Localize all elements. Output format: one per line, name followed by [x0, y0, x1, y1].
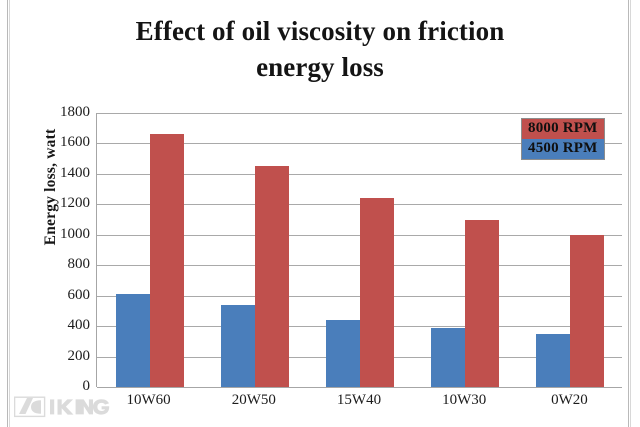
king-logo-watermark	[14, 396, 110, 418]
x-axis-tick-labels: 10W6020W5015W4010W300W20	[96, 392, 622, 409]
chart-title-line-1: Effect of oil viscosity on friction	[60, 14, 580, 50]
y-axis-tick-label: 400	[68, 317, 91, 334]
bar	[326, 320, 360, 387]
bar	[570, 235, 604, 387]
chart-legend: 8000 RPM4500 RPM	[521, 118, 605, 160]
bar	[255, 166, 289, 387]
bar-group	[307, 113, 412, 387]
y-axis-tick-label: 1000	[60, 226, 90, 243]
bar	[221, 305, 255, 387]
bar-group	[412, 113, 517, 387]
slide-right-border	[628, 0, 629, 427]
x-axis-tick-label: 10W30	[412, 392, 517, 409]
y-axis-tick-label: 600	[68, 287, 91, 304]
slide-right-border-inner	[630, 0, 631, 427]
x-axis-tick-label: 0W20	[517, 392, 622, 409]
y-axis-tick-label: 800	[68, 256, 91, 273]
slide-left-border-inner	[9, 0, 10, 427]
y-axis-tick-label: 200	[68, 348, 91, 365]
bar	[360, 198, 394, 387]
x-axis-line: 0	[97, 387, 622, 388]
y-axis-tick-label: 0	[83, 378, 91, 395]
y-axis-title: Energy loss, watt	[42, 92, 60, 282]
x-axis-tick-label: 20W50	[201, 392, 306, 409]
chart-title-line-2: energy loss	[60, 50, 580, 86]
chart-title: Effect of oil viscosity on friction ener…	[60, 14, 580, 85]
bar	[150, 134, 184, 387]
bar	[536, 334, 570, 387]
slide-left-border	[7, 0, 8, 427]
legend-item: 8000 RPM	[522, 119, 604, 139]
bar-group	[97, 113, 202, 387]
y-axis-tick-label: 1800	[60, 104, 90, 121]
bar	[116, 294, 150, 387]
bar-group	[202, 113, 307, 387]
x-axis-tick-label: 10W60	[96, 392, 201, 409]
y-axis-tick-label: 1400	[60, 165, 90, 182]
chart-figure: Effect of oil viscosity on friction ener…	[0, 0, 640, 427]
bar	[465, 220, 499, 387]
y-axis-tick-label: 1600	[60, 135, 90, 152]
y-axis-tick-label: 1200	[60, 195, 90, 212]
legend-item: 4500 RPM	[522, 139, 604, 159]
bar	[431, 328, 465, 387]
x-axis-tick-label: 15W40	[306, 392, 411, 409]
